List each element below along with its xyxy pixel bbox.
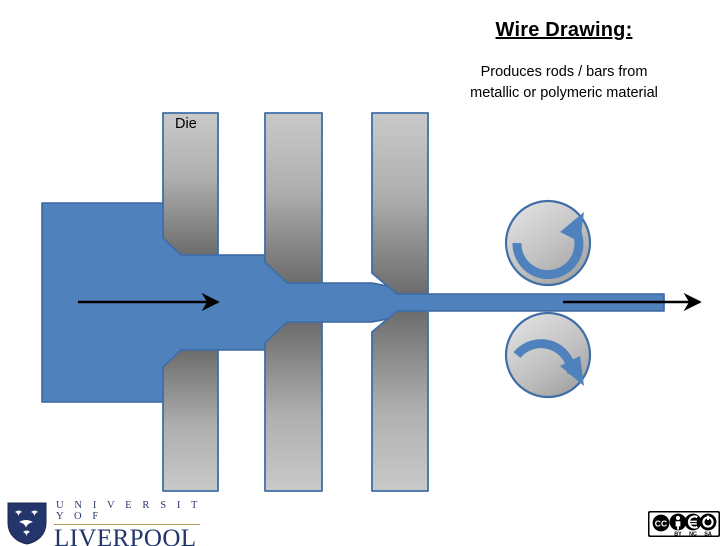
wire-drawing-diagram bbox=[0, 0, 728, 546]
cc-logo-text: CC bbox=[655, 519, 667, 529]
cc-logo-icon: CC bbox=[653, 515, 670, 532]
die-2-lower bbox=[265, 322, 322, 491]
die-1-upper bbox=[163, 113, 218, 255]
die-1-lower bbox=[163, 350, 218, 491]
logo-university-of-text: U N I V E R S I T Y O F bbox=[54, 501, 204, 522]
cc-by-nc-sa-badge[interactable]: CC BY NC SA bbox=[648, 511, 720, 537]
logo-liverpool-text: LIVERPOOL bbox=[54, 526, 204, 546]
logo-wordmark: U N I V E R S I T Y O F LIVERPOOL bbox=[54, 501, 204, 546]
cc-sa-label: SA bbox=[704, 531, 712, 537]
slide-canvas: Wire Drawing: Produces rods / bars from … bbox=[0, 0, 728, 546]
cc-nc-label: NC bbox=[689, 531, 697, 537]
university-logo: U N I V E R S I T Y O F LIVERPOOL bbox=[6, 501, 202, 545]
die-3-lower bbox=[372, 311, 428, 491]
roller-top bbox=[506, 201, 590, 285]
liverpool-shield-icon bbox=[6, 501, 48, 545]
die-3-upper bbox=[372, 113, 428, 294]
cc-by-label: BY bbox=[674, 531, 682, 537]
die-label: Die bbox=[175, 116, 197, 133]
roller-bottom bbox=[506, 313, 590, 397]
die-2-upper bbox=[265, 113, 322, 283]
